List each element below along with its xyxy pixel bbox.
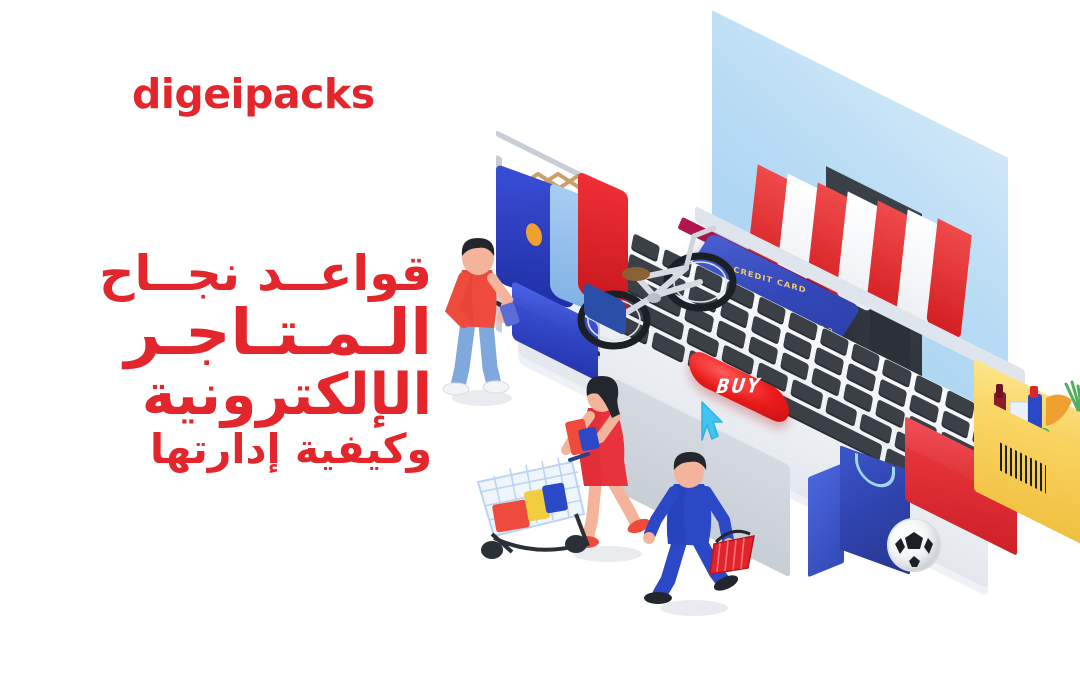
buy-button-label: BUY (713, 375, 765, 399)
headline-line-3: الإلكترونية (40, 365, 432, 427)
headline-line-1: قواعــد نجــاح (40, 248, 432, 300)
soccer-ball (887, 518, 941, 572)
brand-logo-text: digeipacks (132, 70, 375, 118)
mouse-pointer-icon (700, 398, 726, 442)
bicycle (578, 202, 738, 362)
shopping-bag-side (808, 463, 844, 578)
poster-canvas: digeipacks قواعــد نجــاح الـمـتـاجـر ال… (0, 0, 1080, 675)
headline-block: قواعــد نجــاح الـمـتـاجـر الإلكترونية و… (40, 248, 432, 473)
brand-logo: digeipacks (132, 74, 375, 115)
headline-line-4: وكيفية إدارتها (40, 427, 432, 473)
headline-line-2: الـمـتـاجـر (40, 300, 432, 366)
person-man-with-basket (632, 448, 772, 618)
shopping-cart (464, 426, 614, 566)
ecommerce-illustration: CREDIT CARD 1234 4567 8910 1112 CARDHOLD… (400, 30, 1080, 640)
person-man-with-phone (430, 226, 540, 406)
